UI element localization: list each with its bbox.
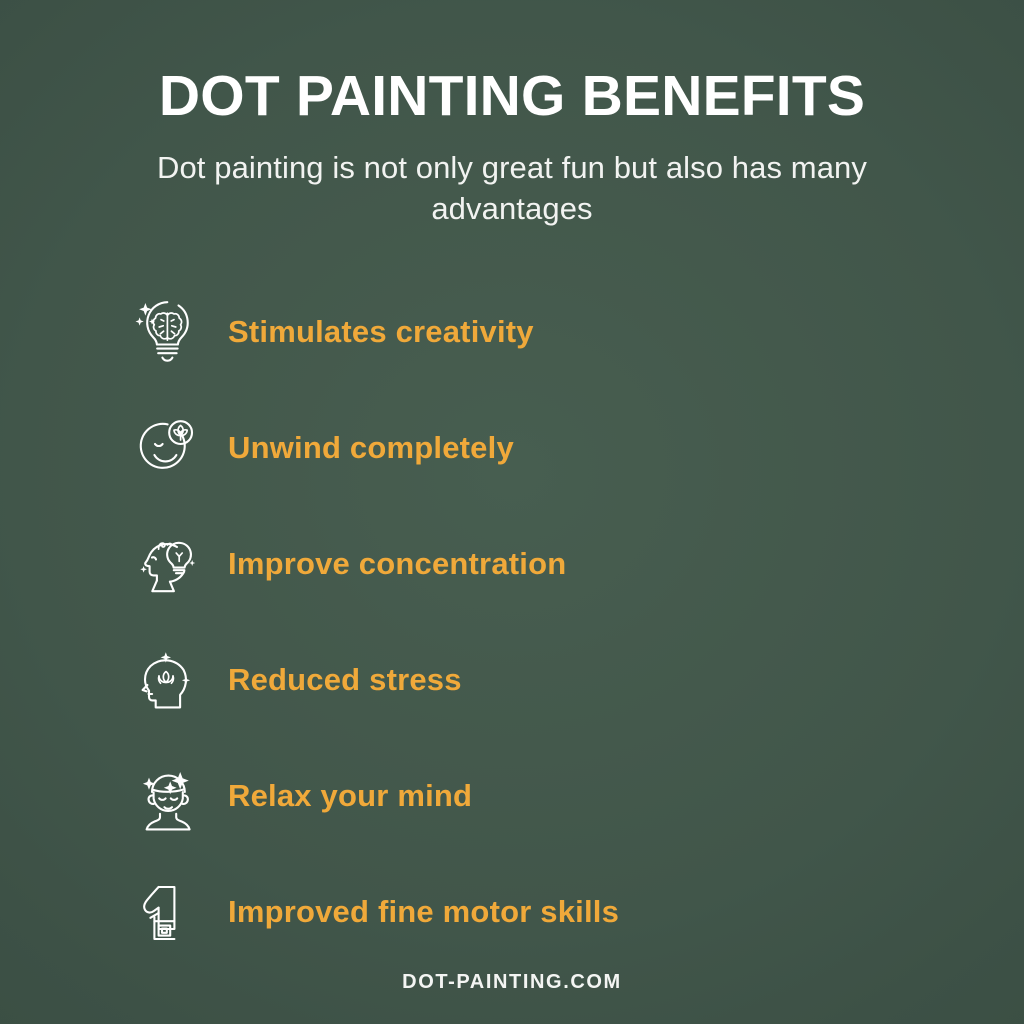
benefit-label: Relax your mind: [228, 779, 472, 813]
head-profile-lotus-icon: [134, 642, 204, 718]
list-item: Improved fine motor skills: [134, 854, 924, 970]
relaxed-face-stars-icon: [134, 758, 204, 834]
page-subtitle: Dot painting is not only great fun but a…: [142, 147, 882, 229]
benefits-list: Stimulates creativity Unwind completely: [134, 274, 924, 970]
head-profile-lightbulb-icon: [134, 526, 204, 602]
poster-footer: DOT-PAINTING.COM: [0, 971, 1024, 994]
benefit-label: Unwind completely: [228, 431, 514, 465]
list-item: Stimulates creativity: [134, 274, 924, 390]
benefit-label: Stimulates creativity: [228, 315, 534, 349]
website-url[interactable]: DOT-PAINTING.COM: [402, 971, 622, 993]
page-title: DOT PAINTING BENEFITS: [0, 66, 1024, 128]
hand-holding-block-icon: [134, 874, 204, 950]
brain-lightbulb-icon: [134, 294, 204, 370]
list-item: Relax your mind: [134, 738, 924, 854]
list-item: Unwind completely: [134, 390, 924, 506]
poster-canvas: DOT PAINTING BENEFITS Dot painting is no…: [0, 0, 1024, 1024]
benefit-label: Improve concentration: [228, 547, 566, 581]
benefit-label: Improved fine motor skills: [228, 895, 619, 929]
winking-face-flower-icon: [134, 410, 204, 486]
list-item: Improve concentration: [134, 506, 924, 622]
list-item: Reduced stress: [134, 622, 924, 738]
benefit-label: Reduced stress: [228, 663, 462, 697]
poster-header: DOT PAINTING BENEFITS Dot painting is no…: [0, 0, 1024, 229]
